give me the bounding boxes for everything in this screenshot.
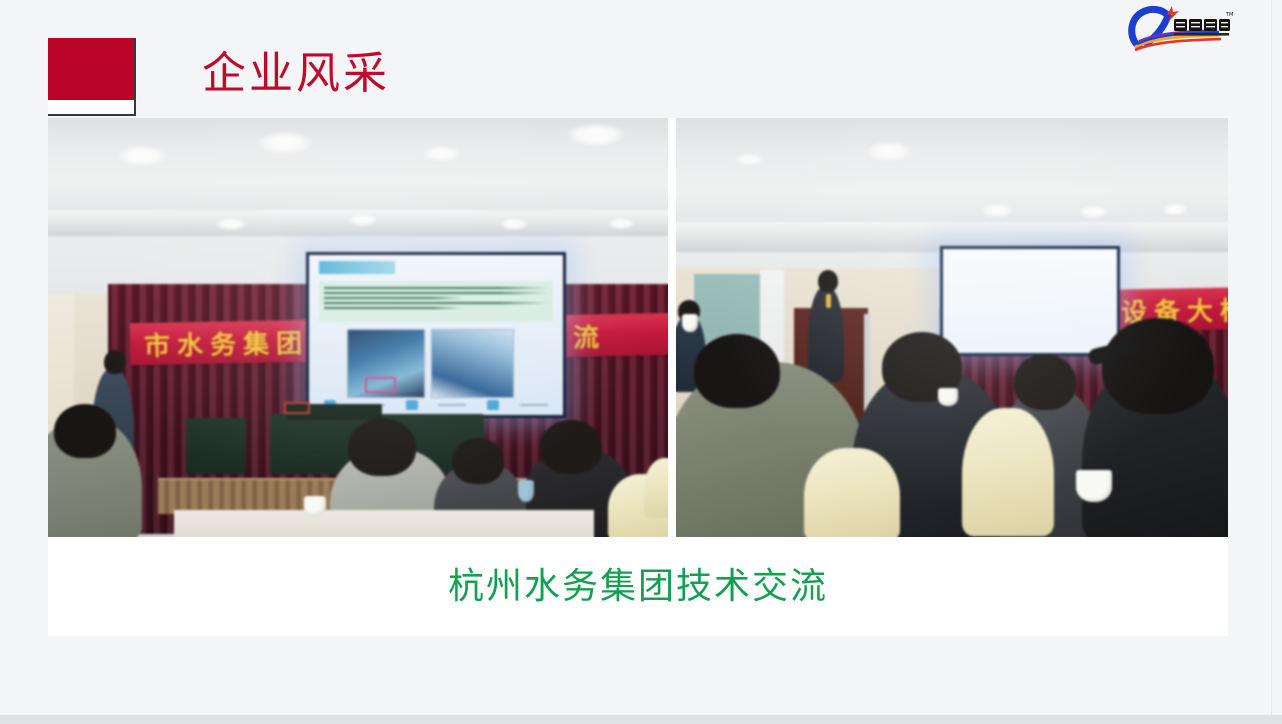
downlight-icon	[348, 214, 376, 226]
downlight-icon	[736, 154, 762, 165]
slide-highlight-box	[365, 377, 396, 393]
audience-head	[540, 420, 602, 474]
page-title: 企业风采	[202, 48, 390, 100]
header-red-mark-fill	[48, 38, 134, 100]
audience-head	[452, 438, 504, 484]
audience-head	[1102, 318, 1214, 414]
projector-slide	[943, 249, 1117, 353]
slide-thumbnail	[431, 329, 514, 398]
photo-gallery: 市水务集团设备大检修竞赛交流	[48, 118, 1228, 537]
teacup	[304, 496, 326, 516]
downlight-icon	[982, 204, 1012, 217]
content-card: 市水务集团设备大检修竞赛交流	[48, 118, 1228, 636]
av-indicator	[284, 402, 310, 414]
downlight-icon	[568, 124, 624, 146]
speaker-head	[818, 270, 838, 292]
downlight-icon	[500, 218, 528, 230]
teacup	[682, 314, 698, 332]
gallery-photo-2[interactable]: 市水务集团设备大检修竞赛交	[676, 118, 1228, 537]
presenter-head	[104, 350, 126, 374]
photo-1-scene: 市水务集团设备大检修竞赛交流	[48, 118, 668, 537]
page-root: TM 电驰科技 ELECTRICAL DH TECHNOLOGY 企业风采	[0, 0, 1282, 724]
audience-head	[694, 334, 780, 408]
downlight-icon	[866, 142, 912, 161]
downlight-icon	[424, 146, 460, 161]
teacup	[938, 388, 958, 406]
svg-text:TM: TM	[1225, 12, 1233, 18]
projector-screen	[940, 246, 1120, 356]
photo-2-scene: 市水务集团设备大检修竞赛交	[676, 118, 1228, 537]
audience-head	[1014, 354, 1076, 410]
chair-cover	[962, 408, 1054, 536]
header-red-mark	[48, 38, 136, 116]
projector-screen	[306, 252, 566, 418]
audience-head	[348, 418, 416, 476]
slide-title-bar	[319, 261, 395, 274]
ceiling	[676, 118, 1228, 222]
page-bottom-rail	[0, 715, 1282, 724]
water-bottle	[518, 480, 534, 502]
chair-cover	[804, 448, 900, 537]
slide-thumbnail	[347, 329, 425, 398]
gallery-photo-1[interactable]: 市水务集团设备大检修竞赛交流	[48, 118, 668, 537]
teacup	[1076, 470, 1112, 502]
page-header: 企业风采	[48, 38, 390, 116]
downlight-icon	[1162, 204, 1188, 215]
projector-slide	[309, 255, 563, 415]
downlight-icon	[216, 218, 246, 230]
downlight-icon	[1080, 206, 1108, 218]
audience-head	[54, 404, 116, 458]
av-cabinet	[186, 418, 246, 474]
downlight-icon	[608, 218, 634, 229]
gallery-caption: 杭州水务集团技术交流	[448, 565, 828, 609]
front-table	[174, 510, 594, 537]
page-right-rail	[1271, 0, 1282, 724]
microphone-icon	[826, 294, 831, 308]
slide-text-block	[319, 281, 553, 323]
downlight-icon	[258, 132, 312, 154]
downlight-icon	[118, 146, 166, 166]
gallery-caption-bar: 杭州水务集团技术交流	[48, 537, 1228, 636]
brand-logo[interactable]: TM 电驰科技 ELECTRICAL DH TECHNOLOGY	[1127, 2, 1235, 52]
